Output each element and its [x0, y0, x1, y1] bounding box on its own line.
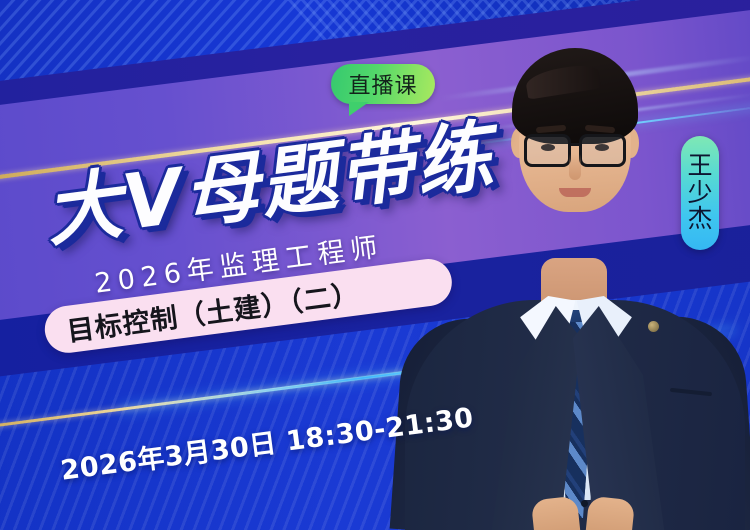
live-course-badge[interactable]: 直播课 [331, 64, 435, 104]
teacher-name-char-1: 王 [687, 153, 712, 180]
teacher-name-char-2: 少 [687, 180, 712, 207]
nose [569, 154, 581, 180]
teacher-portrait [395, 0, 750, 530]
teacher-name-char-3: 杰 [687, 206, 712, 233]
live-course-poster: 直播课 大V母题带练 2026年监理工程师 目标控制（土建）（二） 2026年3… [0, 0, 750, 530]
suit-button [581, 500, 588, 507]
lapel-pin-icon [648, 321, 659, 332]
mouth [559, 188, 591, 197]
live-course-badge-label: 直播课 [348, 68, 417, 100]
teacher-name-badge: 王 少 杰 [681, 136, 719, 250]
hair [512, 48, 638, 144]
